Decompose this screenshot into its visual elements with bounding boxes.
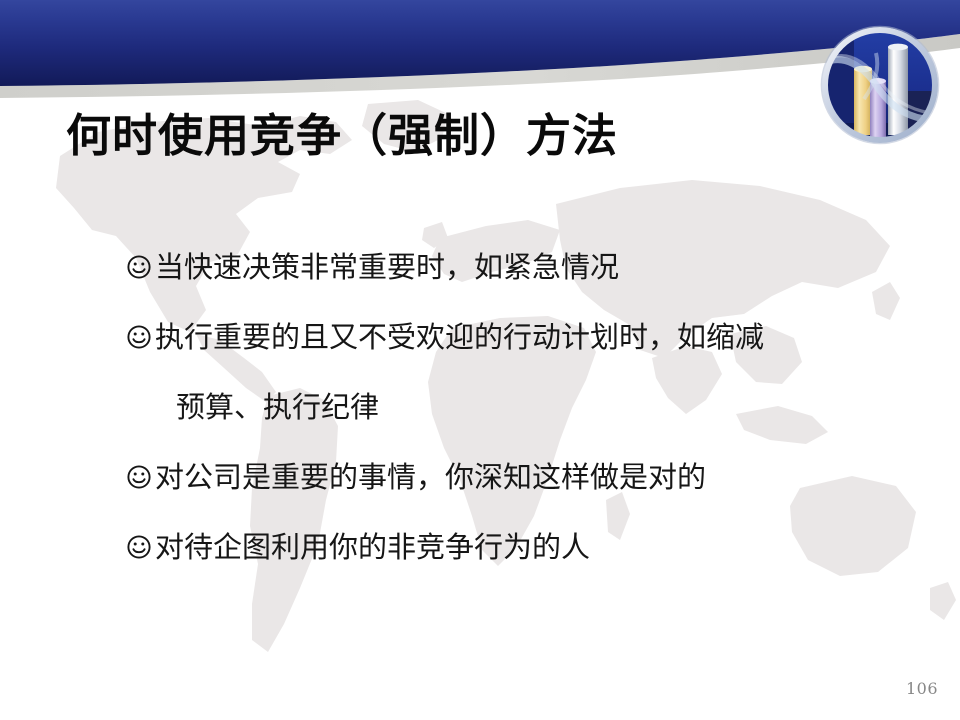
bullet-item-3: 对公司是重要的事情，你深知这样做是对的	[126, 460, 916, 494]
bullet-text: 执行重要的且又不受欢迎的行动计划时，如缩减	[155, 320, 764, 354]
bullet-list: 当快速决策非常重要时，如紧急情况 执行重要的且又不受欢迎的行动计划时，如缩减 预…	[126, 250, 916, 600]
bullet-text: 对待企图利用你的非竞争行为的人	[155, 530, 590, 564]
slide-canvas: 何时使用竞争（强制）方法 当快速决策非常重要时，如紧急情况 执行重要的且又不受欢…	[0, 0, 960, 720]
bullet-item-1: 当快速决策非常重要时，如紧急情况	[126, 250, 916, 284]
bullet-text: 当快速决策非常重要时，如紧急情况	[155, 250, 619, 284]
smiley-face-bullet-icon	[126, 254, 152, 280]
smiley-face-bullet-icon	[126, 534, 152, 560]
slide-title: 何时使用竞争（强制）方法	[66, 108, 618, 164]
smiley-face-bullet-icon	[126, 464, 152, 490]
bullet-text: 预算、执行纪律	[176, 390, 379, 424]
smiley-face-bullet-icon	[126, 324, 152, 350]
page-number: 106	[906, 679, 938, 698]
bullet-text: 对公司是重要的事情，你深知这样做是对的	[155, 460, 706, 494]
bar-chart-circle-logo-icon	[818, 23, 942, 147]
bullet-item-2: 执行重要的且又不受欢迎的行动计划时，如缩减	[126, 320, 916, 354]
bullet-item-4: 对待企图利用你的非竞争行为的人	[126, 530, 916, 564]
bullet-indent-spacer	[126, 394, 176, 420]
header-banner	[0, 0, 960, 110]
bullet-item-2-continuation: 预算、执行纪律	[126, 390, 916, 424]
